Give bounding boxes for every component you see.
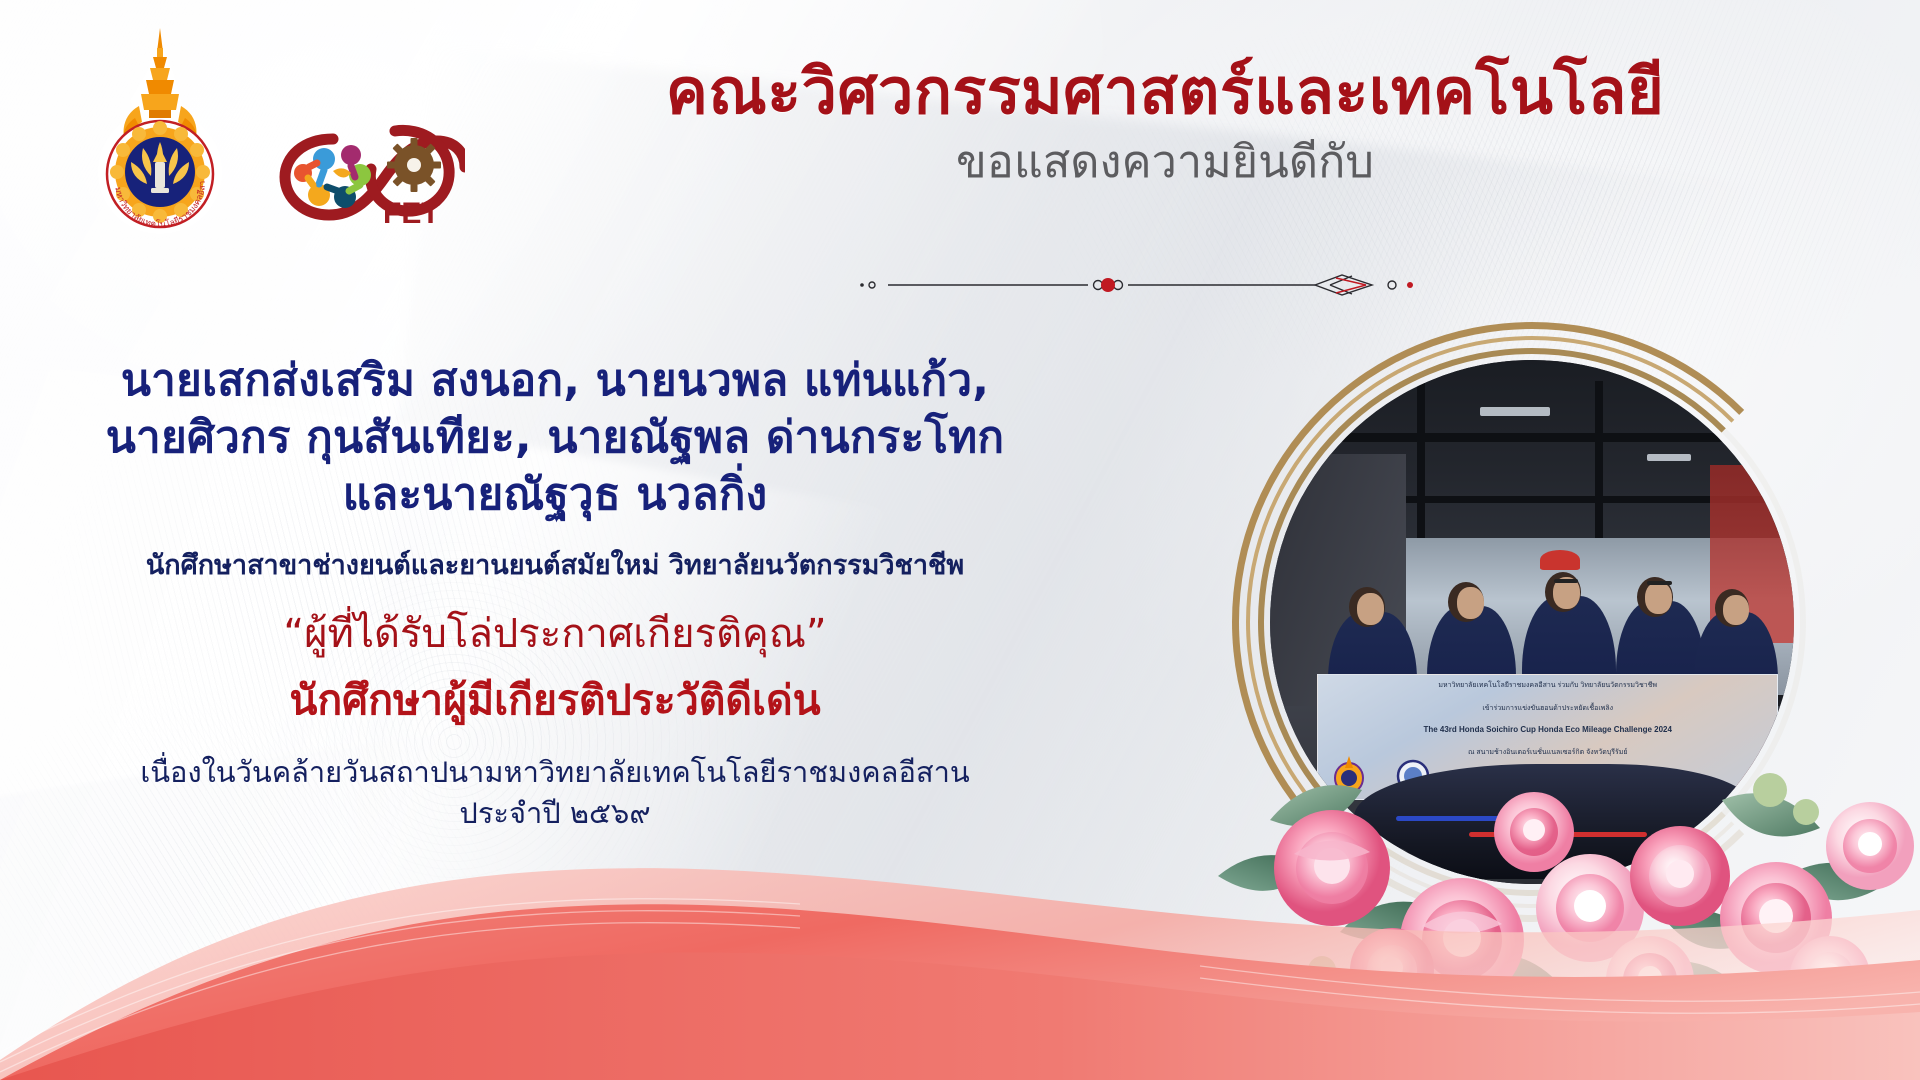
header-block: คณะวิศวกรรมศาสตร์และเทคโนโลยี ขอแสดงความ… <box>520 55 1810 189</box>
recipient-names: นายเสกส่งเสริม สงนอก, นายนวพล แท่นแก้ว, … <box>40 352 1070 524</box>
photo-ceiling-light-2 <box>1647 454 1691 461</box>
photo-sunglasses-1 <box>1554 579 1578 583</box>
recipient-name-line-3: และนายณัฐวุธ นวลกิ่ง <box>40 466 1070 523</box>
department-line: นักศึกษาสาขาช่างยนต์และยานยนต์สมัยใหม่ ว… <box>40 548 1070 583</box>
award-title: “ผู้ที่ได้รับโล่ประกาศเกียรติคุณ” <box>40 609 1070 659</box>
photo-beam-1 <box>1270 433 1794 442</box>
bottom-red-wave <box>0 760 1920 1080</box>
recipient-name-line-1: นายเสกส่งเสริม สงนอก, นายนวพล แท่นแก้ว, <box>40 352 1070 409</box>
photo-red-cap <box>1540 550 1580 570</box>
fet-logo-text: FET <box>383 197 440 230</box>
page-subtitle: ขอแสดงความยินดีกับ <box>520 135 1810 189</box>
recipient-name-line-2: นายศิวกร กุนสันเทียะ, นายณัฐพล ด่านกระโท… <box>40 409 1070 466</box>
photo-beam-3 <box>1417 381 1425 559</box>
page-title: คณะวิศวกรรมศาสตร์และเทคโนโลยี <box>520 55 1810 129</box>
rmuti-emblem-logo: มหาวิทยาลัยเทคโนโลยีราชมงคลอีสาน <box>95 22 225 237</box>
photo-sunglasses-2 <box>1647 581 1672 585</box>
certificate-banner: มหาวิทยาลัยเทคโนโลยีราชมงคลอีสาน <box>0 0 1920 1080</box>
ornamental-divider <box>860 272 1480 298</box>
fet-logo: FET <box>275 115 465 230</box>
photo-ceiling-light-1 <box>1480 407 1550 416</box>
honor-title: นักศึกษาผู้มีเกียรติประวัติดีเด่น <box>40 675 1070 726</box>
photo-beam-4 <box>1595 381 1603 559</box>
